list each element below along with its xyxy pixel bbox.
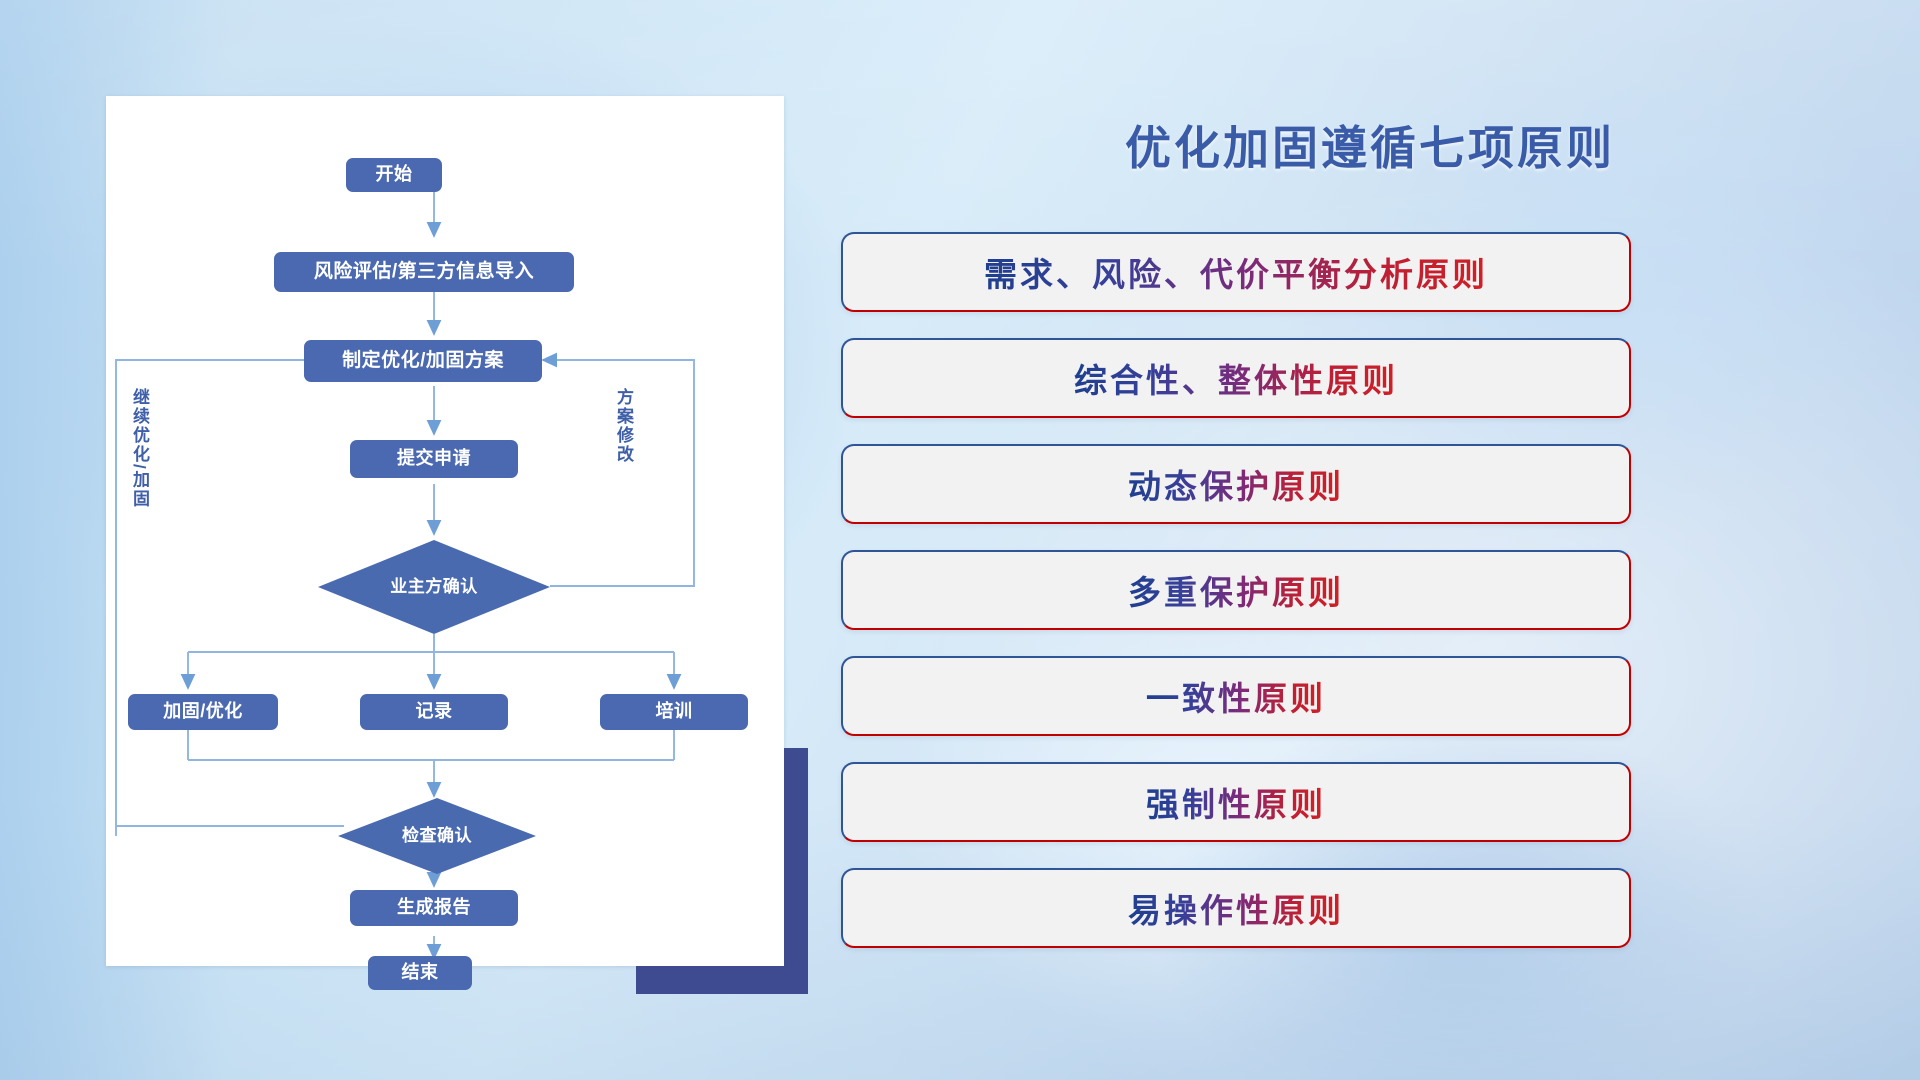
principle-card-6[interactable]: 强制性原则 xyxy=(841,762,1631,842)
principle-card-7-label: 易操作性原则 xyxy=(1128,884,1344,932)
flow-node-risk-assessment-label: 风险评估/第三方信息导入 xyxy=(314,262,534,283)
flow-node-generate-report[interactable]: 生成报告 xyxy=(350,890,518,926)
flow-node-reinforce-optimize-label: 加固/优化 xyxy=(163,702,243,722)
flow-node-submit-application-label: 提交申请 xyxy=(397,449,471,469)
principle-card-5-label: 一致性原则 xyxy=(1146,672,1326,720)
principle-card-2-label: 综合性、整体性原则 xyxy=(1074,354,1398,402)
principle-card-3-label: 动态保护原则 xyxy=(1128,460,1344,508)
flowchart-card: 开始 风险评估/第三方信息导入 制定优化/加固方案 提交申请 业主方确认 加固/… xyxy=(106,96,784,966)
principles-card-list: 需求、风险、代价平衡分析原则 综合性、整体性原则 动态保护原则 多重保护原则 一… xyxy=(841,232,1631,974)
principle-card-3[interactable]: 动态保护原则 xyxy=(841,444,1631,524)
flow-node-check-confirm[interactable]: 检查确认 xyxy=(338,798,536,874)
flow-node-plan[interactable]: 制定优化/加固方案 xyxy=(304,340,542,382)
principle-card-2[interactable]: 综合性、整体性原则 xyxy=(841,338,1631,418)
flow-edge-label-plan-revision: 方案修改 xyxy=(614,388,633,464)
flowchart-panel: 开始 风险评估/第三方信息导入 制定优化/加固方案 提交申请 业主方确认 加固/… xyxy=(0,0,820,1080)
flow-node-owner-confirm[interactable]: 业主方确认 xyxy=(318,540,550,634)
flow-node-record-label: 记录 xyxy=(416,702,453,722)
principles-title: 优化加固遵循七项原则 xyxy=(820,112,1920,178)
flow-node-training[interactable]: 培训 xyxy=(600,694,748,730)
flow-node-generate-report-label: 生成报告 xyxy=(397,898,471,918)
principle-card-4[interactable]: 多重保护原则 xyxy=(841,550,1631,630)
principles-panel: 优化加固遵循七项原则 需求、风险、代价平衡分析原则 综合性、整体性原则 动态保护… xyxy=(820,0,1920,1080)
principle-card-7[interactable]: 易操作性原则 xyxy=(841,868,1631,948)
flow-node-risk-assessment[interactable]: 风险评估/第三方信息导入 xyxy=(274,252,574,292)
flow-node-owner-confirm-label: 业主方确认 xyxy=(390,578,478,597)
flow-node-end[interactable]: 结束 xyxy=(368,956,472,990)
flow-node-submit-application[interactable]: 提交申请 xyxy=(350,440,518,478)
flow-node-plan-label: 制定优化/加固方案 xyxy=(342,351,504,372)
flow-node-reinforce-optimize[interactable]: 加固/优化 xyxy=(128,694,278,730)
principle-card-6-label: 强制性原则 xyxy=(1146,778,1326,826)
principle-card-4-label: 多重保护原则 xyxy=(1128,566,1344,614)
principle-card-1[interactable]: 需求、风险、代价平衡分析原则 xyxy=(841,232,1631,312)
flow-node-start-label: 开始 xyxy=(376,165,413,185)
flow-node-record[interactable]: 记录 xyxy=(360,694,508,730)
principle-card-5[interactable]: 一致性原则 xyxy=(841,656,1631,736)
flow-edge-label-continue-optimize: 继续优化/加固 xyxy=(130,388,149,509)
flow-node-training-label: 培训 xyxy=(656,702,693,722)
flow-node-check-confirm-label: 检查确认 xyxy=(402,827,472,846)
flow-node-end-label: 结束 xyxy=(402,963,439,983)
principle-card-1-label: 需求、风险、代价平衡分析原则 xyxy=(984,248,1488,296)
flow-node-start[interactable]: 开始 xyxy=(346,158,442,192)
